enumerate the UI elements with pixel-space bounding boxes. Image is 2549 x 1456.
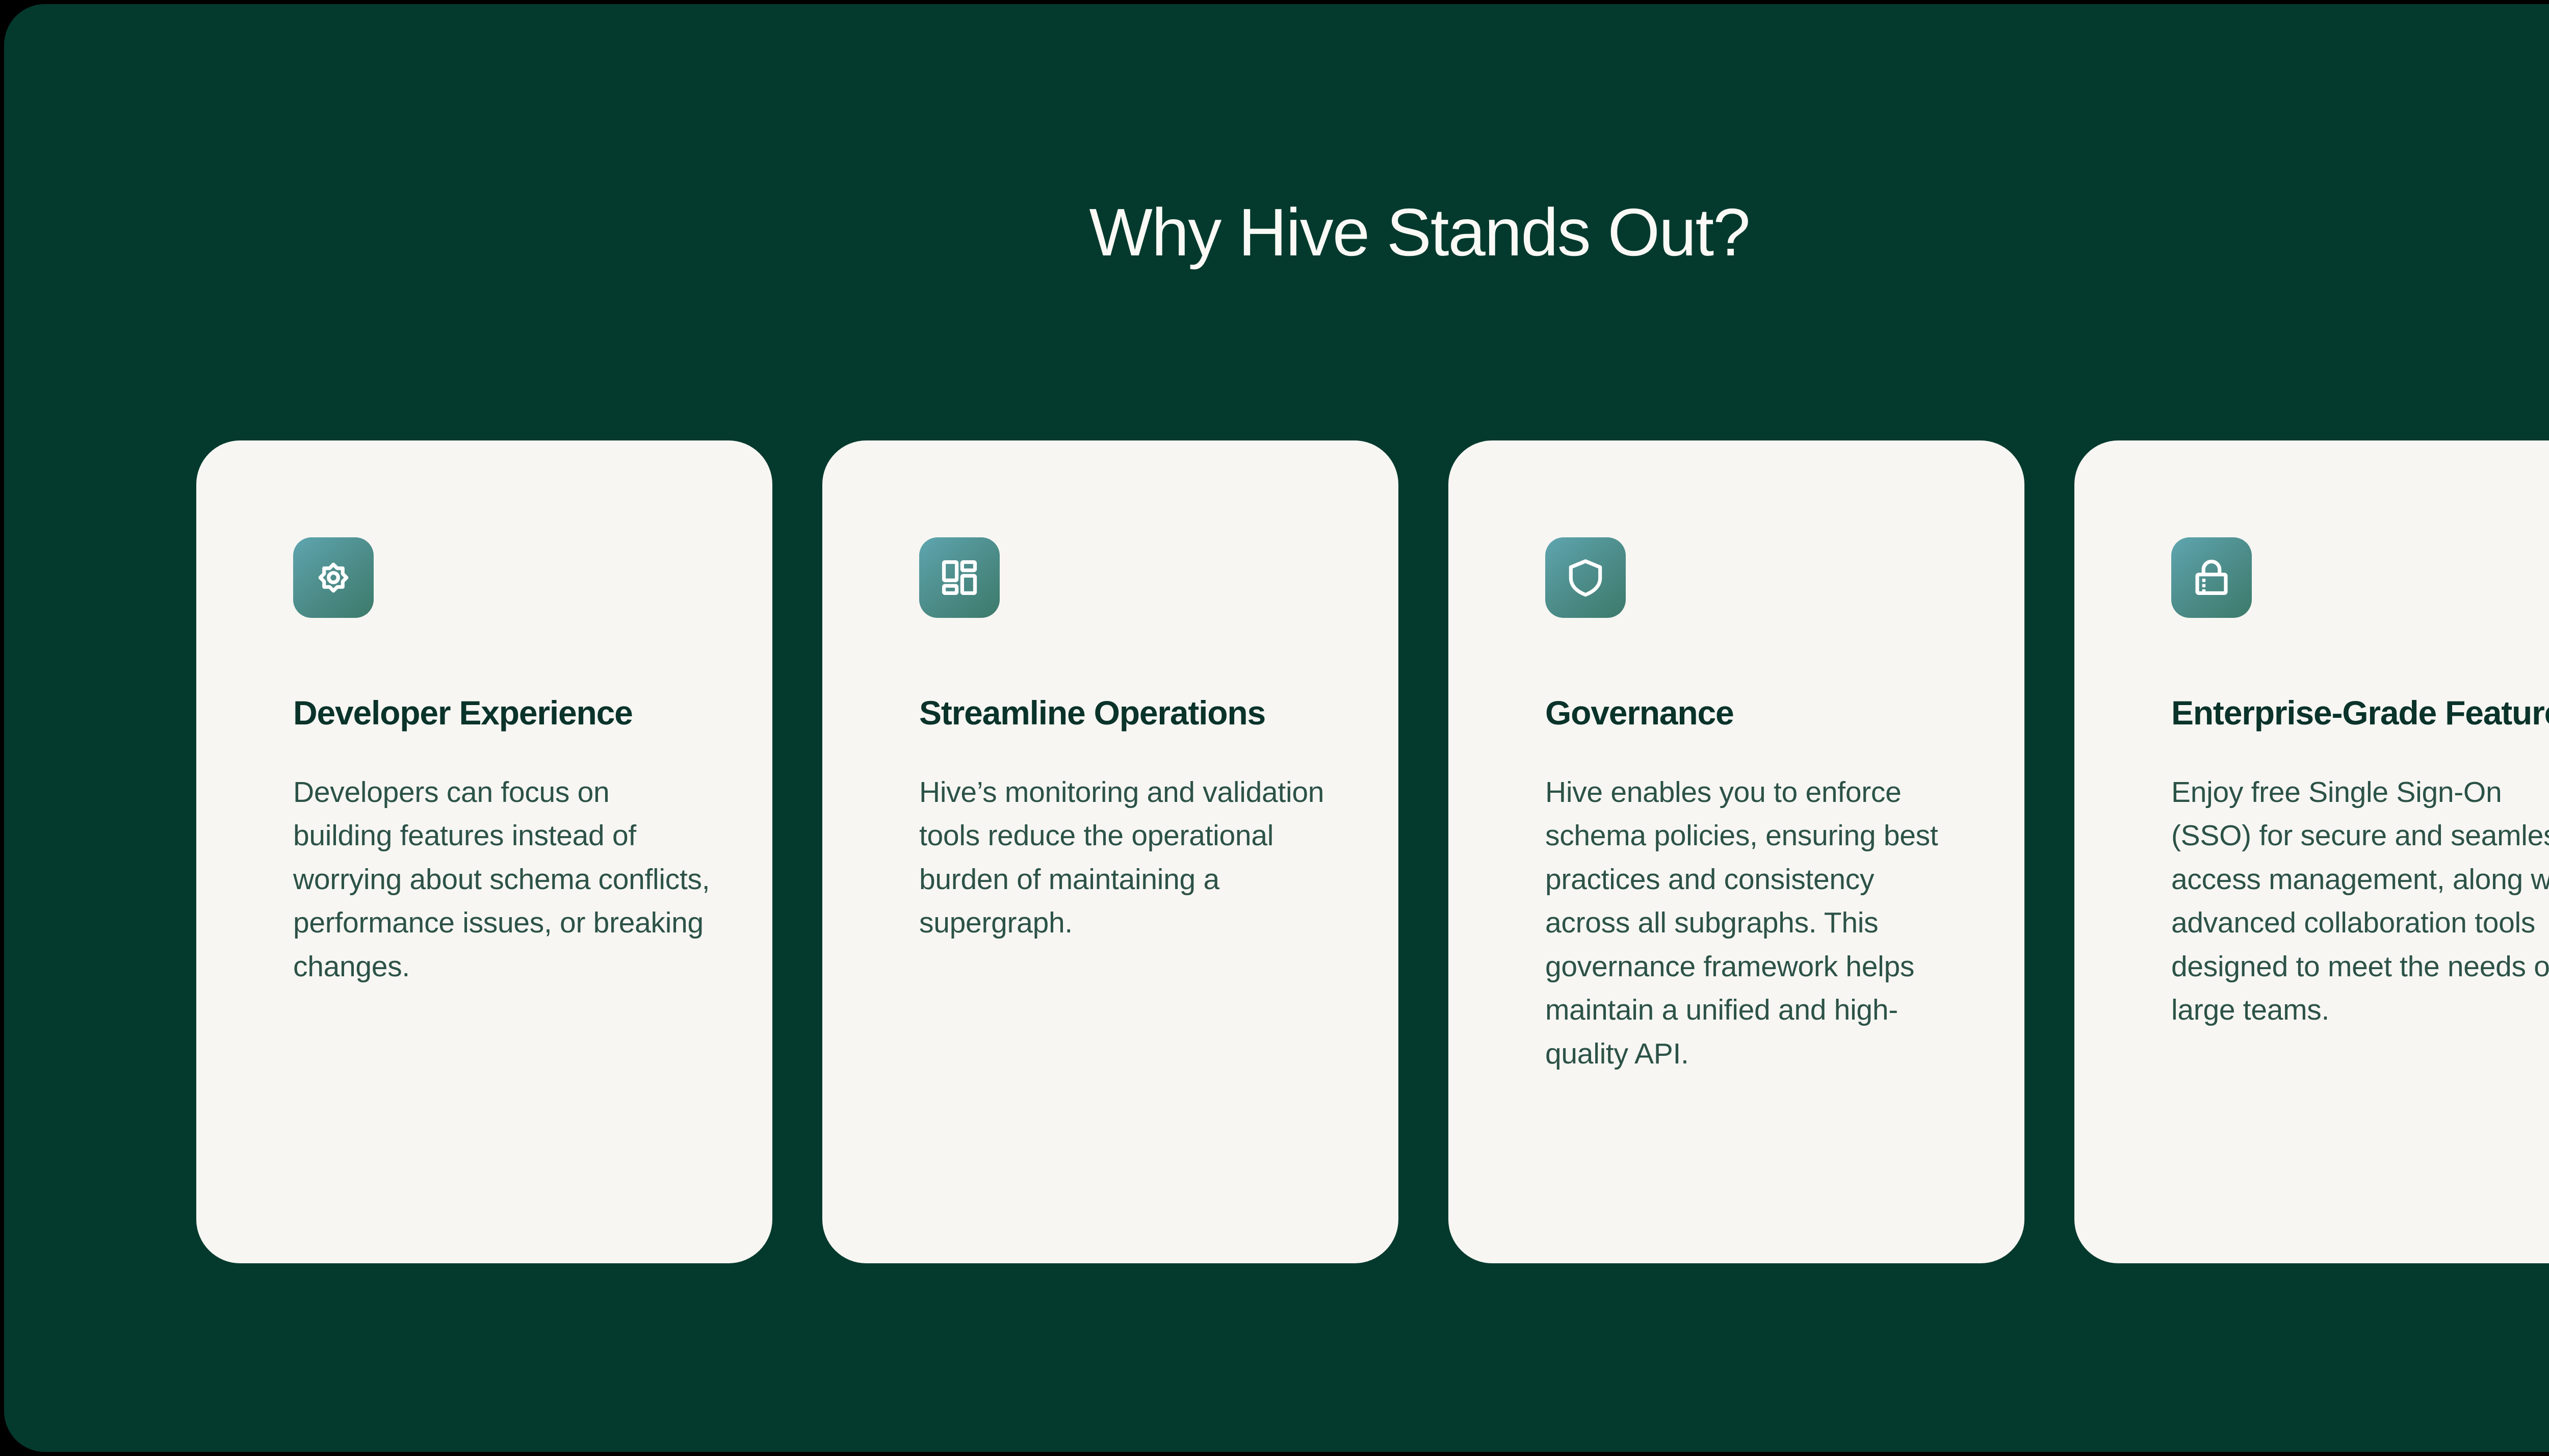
shield-icon: [1545, 537, 1626, 618]
feature-card[interactable]: Governance Hive enables you to enforce s…: [1448, 440, 2024, 1263]
feature-card-title: Developer Experience: [293, 693, 633, 733]
page-title: Why Hive Stands Out?: [4, 194, 2549, 271]
feature-card-body: Hive enables you to enforce schema polic…: [1545, 771, 1963, 1076]
gear-icon: [293, 537, 374, 618]
feature-card-title: Governance: [1545, 693, 1734, 733]
feature-card-title: Enterprise-Grade Features: [2171, 693, 2549, 733]
feature-card-body: Enjoy free Single Sign-On (SSO) for secu…: [2171, 771, 2549, 1032]
screenshot-stage: Why Hive Stands Out? Developer Experienc…: [0, 0, 2549, 1456]
feature-card[interactable]: Streamline Operations Hive’s monitoring …: [822, 440, 1398, 1263]
lock-icon: [2171, 537, 2252, 618]
feature-card[interactable]: Enterprise-Grade Features Enjoy free Sin…: [2074, 440, 2549, 1263]
feature-card-body: Developers can focus on building feature…: [293, 771, 711, 989]
feature-card-body: Hive’s monitoring and validation tools r…: [919, 771, 1337, 945]
feature-card-title: Streamline Operations: [919, 693, 1265, 733]
dashboard-grid-icon: [919, 537, 1000, 618]
feature-section-panel: Why Hive Stands Out? Developer Experienc…: [4, 4, 2549, 1452]
feature-card[interactable]: Developer Experience Developers can focu…: [196, 440, 772, 1263]
feature-card-grid: Developer Experience Developers can focu…: [196, 440, 2549, 1263]
